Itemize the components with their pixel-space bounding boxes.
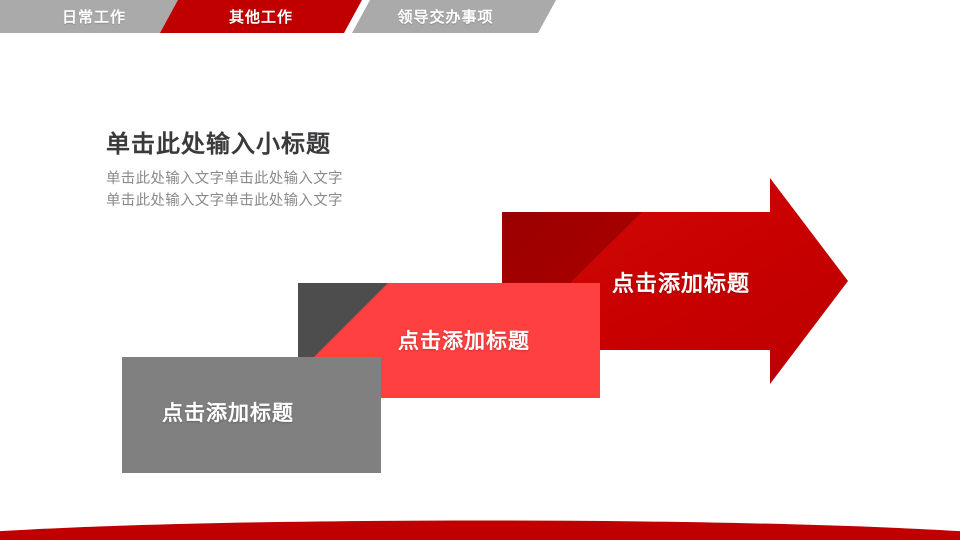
staircase-diagram: 点击添加标题 点击添加标题 点击添加标题 xyxy=(0,0,960,540)
slide-canvas: 日常工作 其他工作 领导交办事项 单击此处输入小标题 单击此处输入文字单击此处输… xyxy=(0,0,960,540)
step-1-label[interactable]: 点击添加标题 xyxy=(162,397,294,427)
bottom-curve-decoration xyxy=(0,500,960,540)
bottom-curve-shape xyxy=(0,521,960,540)
step-3-label[interactable]: 点击添加标题 xyxy=(612,266,750,298)
step-2-label[interactable]: 点击添加标题 xyxy=(398,325,530,355)
